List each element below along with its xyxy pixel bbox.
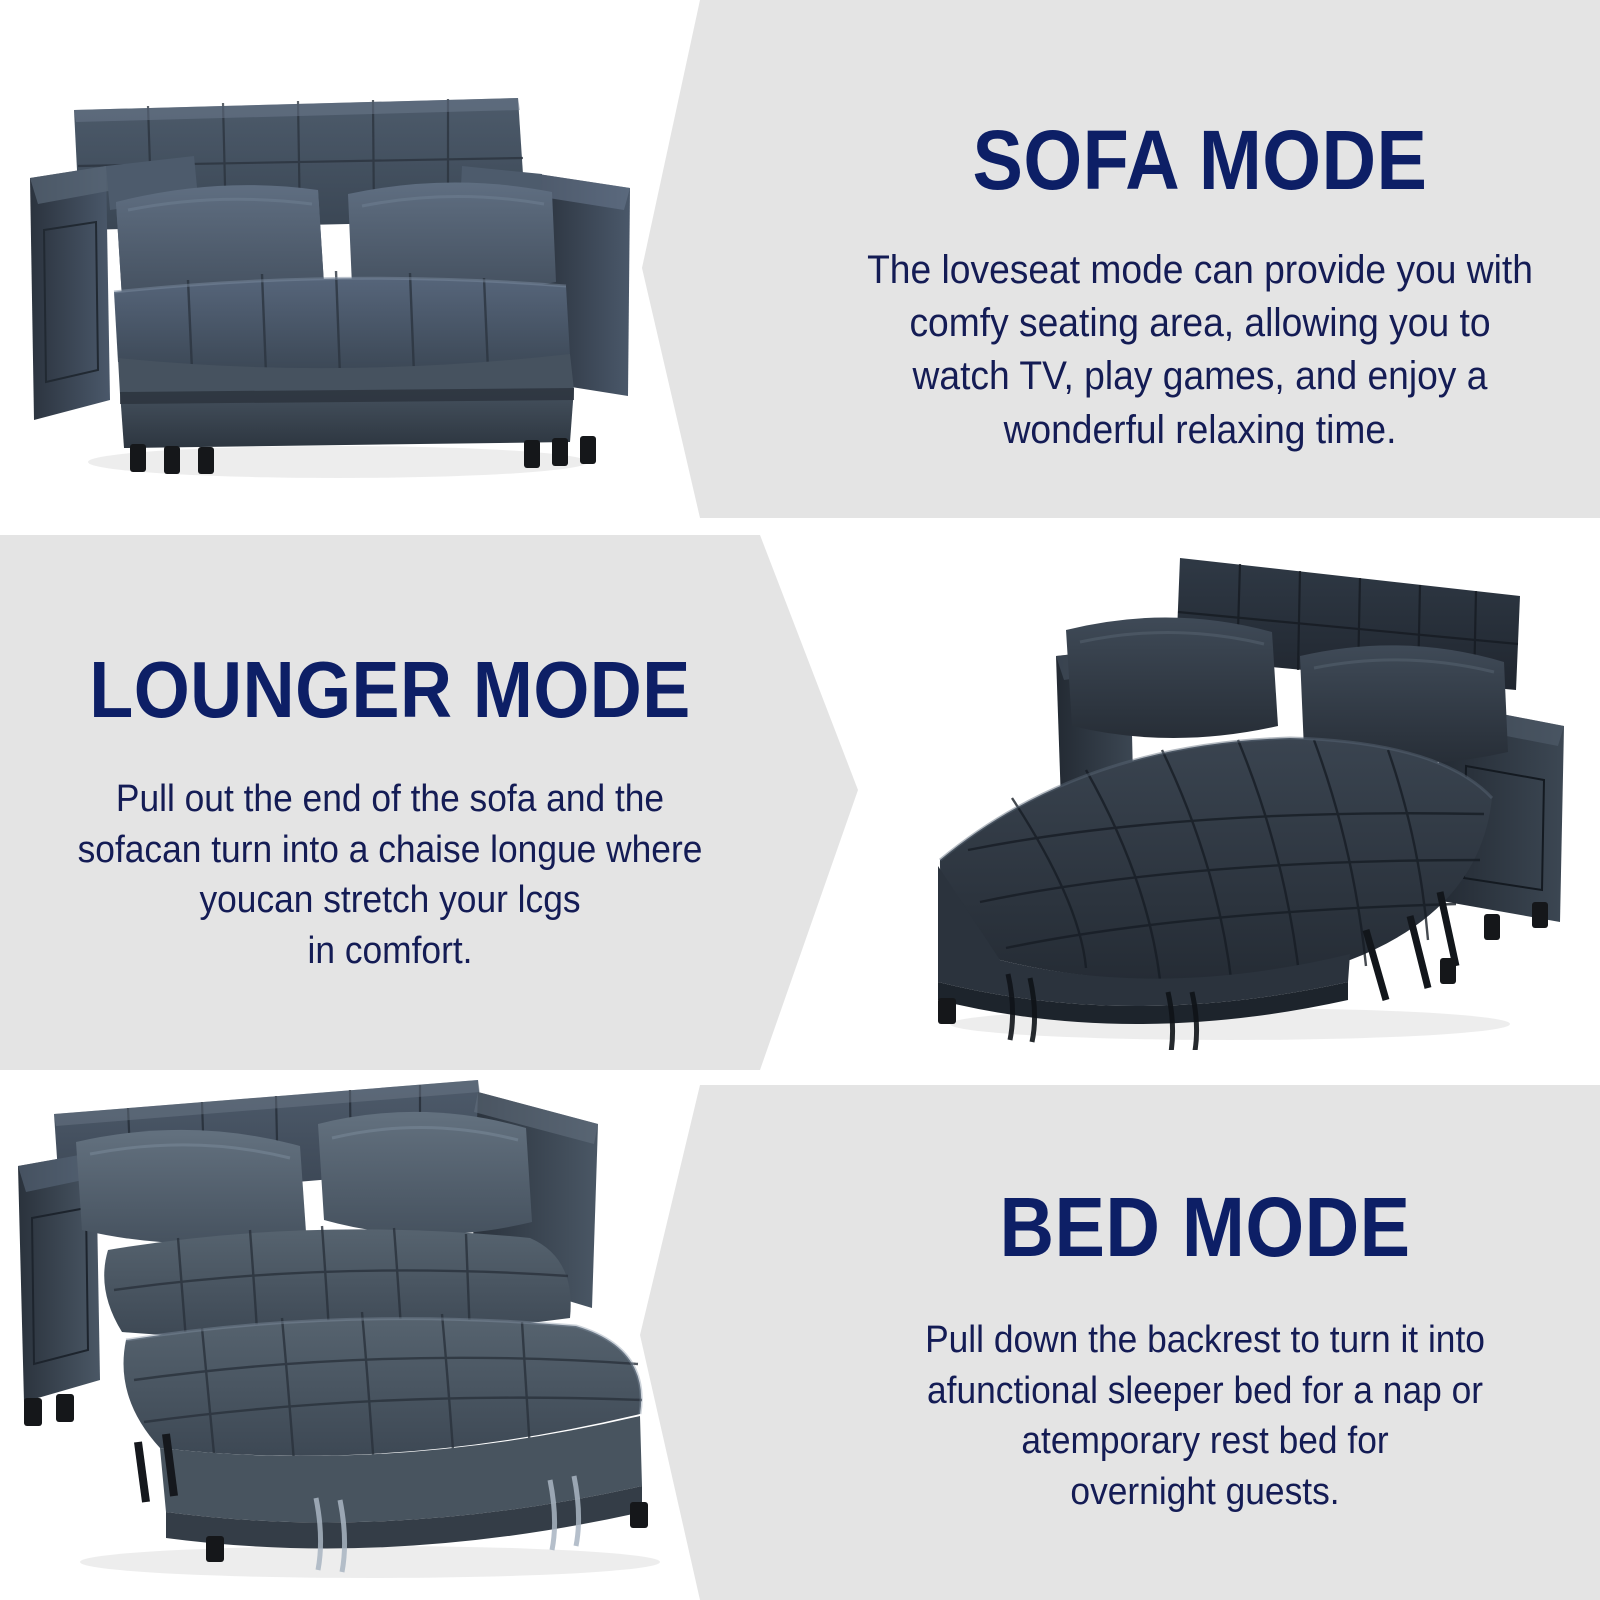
sofa-mode-line-1: The loveseat mode can provide you with xyxy=(856,244,1544,297)
panel-sofa-mode: SOFA MODE The loveseat mode can provide … xyxy=(830,118,1570,457)
bed-mode-line-2: afunctional sleeper bed for a nap or xyxy=(866,1366,1545,1417)
infographic-stage: SOFA MODE The loveseat mode can provide … xyxy=(0,0,1600,1600)
bed-mode-photo xyxy=(10,1050,710,1590)
lounger-mode-line-2: sofacan turn into a chaise longue where xyxy=(37,825,744,876)
sofa-mode-line-4: wonderful relaxing time. xyxy=(856,404,1544,457)
sofa-mode-line-2: comfy seating area, allowing you to xyxy=(856,297,1544,350)
sofa-mode-heading: SOFA MODE xyxy=(867,118,1533,202)
panel-bed-mode: BED MODE Pull down the backrest to turn … xyxy=(840,1185,1570,1517)
sofa-mode-description: The loveseat mode can provide you with c… xyxy=(856,244,1544,457)
bed-mode-line-4: overnight guests. xyxy=(866,1467,1545,1518)
bed-mode-line-1: Pull down the backrest to turn it into xyxy=(866,1315,1545,1366)
lounger-mode-heading: LOUNGER MODE xyxy=(48,650,732,730)
lounger-mode-photo xyxy=(880,530,1570,1050)
lounger-mode-line-1: Pull out the end of the sofa and the xyxy=(37,774,744,825)
bed-mode-heading: BED MODE xyxy=(877,1185,1534,1269)
bed-mode-description: Pull down the backrest to turn it into a… xyxy=(866,1315,1545,1517)
sofa-mode-photo xyxy=(18,70,658,490)
lounger-mode-line-3: youcan stretch your lcgs xyxy=(37,875,744,926)
lounger-mode-description: Pull out the end of the sofa and the sof… xyxy=(37,774,744,976)
bed-mode-line-3: atemporary rest bed for xyxy=(866,1416,1545,1467)
panel-lounger-mode: LOUNGER MODE Pull out the end of the sof… xyxy=(10,650,770,976)
sofa-mode-line-3: watch TV, play games, and enjoy a xyxy=(856,350,1544,403)
lounger-mode-line-4: in comfort. xyxy=(37,926,744,977)
